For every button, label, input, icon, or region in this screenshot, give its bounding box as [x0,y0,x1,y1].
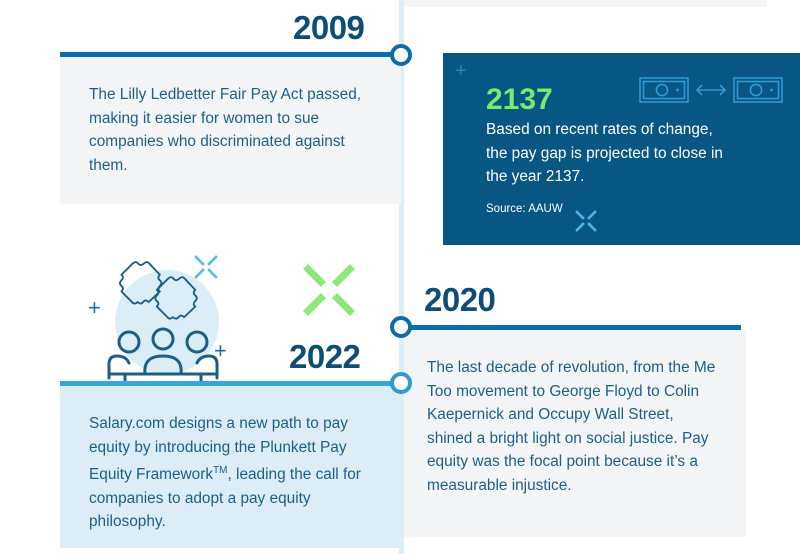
banknote-icon [640,78,688,102]
year-label-2022: 2022 [289,338,360,376]
year-label-2009: 2009 [293,9,364,47]
timeline-node-2009[interactable] [390,44,412,66]
stat-panel-body: Based on recent rates of change, the pay… [486,118,736,189]
trademark-symbol: TM [213,465,227,476]
plus-decoration-icon: + [88,298,101,318]
timeline-node-2022[interactable] [390,372,412,394]
sparkle-icon [192,253,220,286]
sparkle-icon [302,263,356,322]
card-text-2020: The last decade of revolution, from the … [427,356,717,497]
banknote-icon [734,78,782,102]
double-arrow-icon [697,85,725,95]
pay-gap-icon-group [639,75,783,110]
infographic-canvas: 2009 The Lilly Ledbetter Fair Pay Act pa… [0,0,800,554]
previous-card-stub [404,0,767,7]
sparkle-icon [573,208,599,239]
card-2020: The last decade of revolution, from the … [404,330,746,537]
stat-value-2137: 2137 [486,83,553,117]
plus-decoration-icon: + [455,61,467,81]
year-label-2020: 2020 [424,281,495,319]
card-text-2009: The Lilly Ledbetter Fair Pay Act passed,… [89,83,369,177]
stat-panel-source: Source: AAUW [486,203,563,215]
card-2022: Salary.com designs a new path to pay equ… [60,386,401,548]
plus-decoration-icon: + [214,341,227,361]
timeline-node-2020[interactable] [390,316,412,338]
stat-panel-2137: + 2137 Based on recent rates of change, … [443,53,800,245]
collaboration-puzzle-illustration [85,246,245,391]
card-2009: The Lilly Ledbetter Fair Pay Act passed,… [60,57,401,204]
card-text-2022: Salary.com designs a new path to pay equ… [89,412,367,534]
